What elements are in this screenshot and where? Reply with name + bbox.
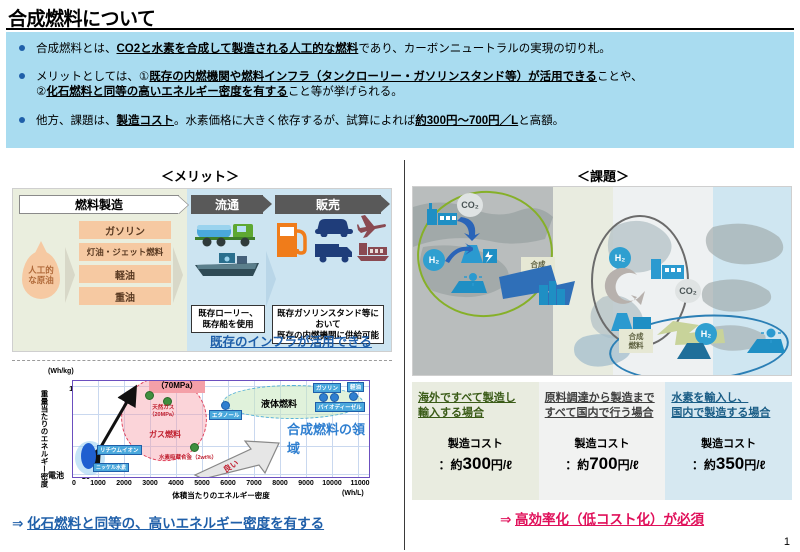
cargo-ship-icon bbox=[357, 241, 389, 263]
synthetic-fuel-zone-label: 合成燃料の領域 bbox=[287, 419, 369, 457]
stage-label-production: 燃料製造 bbox=[75, 196, 123, 213]
x-tick: 5000 bbox=[194, 480, 210, 487]
car-icon bbox=[313, 215, 355, 237]
note-distribution-line2: 既存船を使用 bbox=[195, 319, 261, 330]
data-label-lithium-ion: リチウムイオン bbox=[97, 445, 142, 455]
synth-fuel-tag-right: 合成 燃料 bbox=[619, 329, 653, 353]
cost-card-value: ：約350円/ℓ bbox=[671, 454, 786, 474]
chart-plot-area: 良い 水素 （70MPa） 天然ガス （20MPa） ガス燃料 水素吸蔵合金（2… bbox=[72, 380, 370, 478]
bullet-text-3: 他方、課題は、製造コスト。水素価格に大きく依存するが、試算によれば約300円～7… bbox=[36, 115, 564, 127]
title-divider bbox=[6, 28, 794, 30]
issue-bottom-arrow: ⇒ bbox=[500, 512, 511, 527]
merit-flow-diagram: 燃料製造 流通 販売 人工的 な原油 ガソリン 灯油・ジェット燃料 軽油 重油 bbox=[12, 188, 392, 352]
cost-card-title: 原料調達から製造まで すべて国内で行う場合 bbox=[545, 391, 660, 421]
issue-heading: ＜課題＞ bbox=[410, 166, 796, 185]
chevron-right-icon bbox=[178, 196, 188, 214]
y-axis-unit: (Wh/kg) bbox=[48, 368, 74, 375]
stage-chevron-distribution: 流通 bbox=[191, 195, 263, 214]
cost-card-title: 水素を輸入し、 国内で製造する場合 bbox=[671, 391, 786, 421]
cost-card-subtitle: 製造コスト bbox=[545, 435, 660, 451]
cost-card-title: 海外ですべて製造し 輸入する場合 bbox=[418, 391, 533, 421]
cost-card-value: ：約300円/ℓ bbox=[418, 454, 533, 474]
data-point-hydrogen-alloy bbox=[190, 443, 199, 452]
arrow-separator-icon bbox=[65, 247, 75, 303]
note-sales-line1: 既存ガソリンスタンド等において bbox=[276, 308, 380, 330]
note-distribution: 既存ローリー、 既存船を使用 bbox=[191, 305, 265, 333]
bullet-item-3: 他方、課題は、製造コスト。水素価格に大きく依存するが、試算によれば約300円～7… bbox=[6, 114, 794, 129]
tank-truck-icon bbox=[193, 217, 261, 251]
gas-pump-icon bbox=[275, 217, 309, 261]
data-point-gasoline bbox=[319, 393, 328, 402]
airplane-icon bbox=[357, 213, 387, 239]
merit-bottom-arrow: ⇒ bbox=[12, 516, 23, 531]
page-number: 1 bbox=[784, 536, 790, 548]
data-point-biodiesel bbox=[330, 393, 339, 402]
bullet-dot-icon bbox=[19, 117, 25, 123]
x-tick: 0 bbox=[72, 480, 76, 487]
x-axis-unit: (Wh/L) bbox=[342, 490, 364, 497]
data-label-diesel: 軽油 bbox=[347, 382, 364, 392]
note-distribution-line1: 既存ローリー、 bbox=[195, 308, 261, 319]
bullet-text-1: 合成燃料とは、CO2と水素を合成して製造される人工的な燃料であり、カーボンニュー… bbox=[36, 43, 611, 55]
x-tick: 4000 bbox=[168, 480, 184, 487]
co2-badge-left: CO₂ bbox=[457, 193, 483, 217]
fuel-chip: 軽油 bbox=[79, 265, 171, 283]
bullet-dot-icon bbox=[19, 73, 25, 79]
bullet-item-1: 合成燃料とは、CO2と水素を合成して製造される人工的な燃料であり、カーボンニュー… bbox=[6, 42, 794, 57]
data-point-ethanol bbox=[221, 401, 230, 410]
merit-conclusion: 既存のインフラが活用できる bbox=[191, 331, 391, 350]
hydrogen-callout: 水素 （70MPa） bbox=[149, 380, 205, 393]
energy-density-chart: (Wh/kg) 重量当たりのエネルギー密度 10000 1000 100 10 … bbox=[12, 368, 392, 508]
tanker-ship-icon bbox=[193, 249, 263, 283]
data-label-hydrogen-alloy: 水素吸蔵合金（2wt%） bbox=[157, 453, 219, 461]
data-label-natural-gas: 天然ガス （20MPa） bbox=[147, 405, 179, 419]
fuel-chip: 灯油・ジェット燃料 bbox=[79, 243, 171, 261]
stage-chevron-production: 燃料製造 bbox=[19, 195, 179, 214]
x-tick: 1000 bbox=[90, 480, 106, 487]
liquid-fuel-region-label: 液体燃料 bbox=[261, 397, 297, 410]
bullet-item-2: メリットとしては、①既存の内燃機関や燃料インフラ（タンクローリー・ガソリンスタン… bbox=[6, 70, 794, 100]
cost-card-value: ：約700円/ℓ bbox=[545, 454, 660, 474]
slide-root: 合成燃料について 合成燃料とは、CO2と水素を合成して製造される人工的な燃料であ… bbox=[0, 0, 800, 552]
panel-divider bbox=[404, 160, 405, 550]
x-tick: 6000 bbox=[220, 480, 236, 487]
data-point-hydrogen bbox=[145, 391, 154, 400]
cost-card: 水素を輸入し、 国内で製造する場合 製造コスト ：約350円/ℓ bbox=[665, 382, 792, 500]
issue-bottom-text: 高効率化（低コスト化）が必須 bbox=[515, 512, 704, 527]
crude-label-line1: 人工的 bbox=[28, 265, 54, 275]
x-tick: 9000 bbox=[298, 480, 314, 487]
x-tick: 11000 bbox=[350, 480, 369, 487]
h2-badge-left: H₂ bbox=[423, 249, 445, 271]
bullet-text-2: メリットとしては、①既存の内燃機関や燃料インフラ（タンクローリー・ガソリンスタン… bbox=[36, 71, 643, 98]
co2-badge-right: CO₂ bbox=[675, 279, 701, 303]
chevron-right-icon bbox=[380, 195, 390, 213]
cost-card: 原料調達から製造まで すべて国内で行う場合 製造コスト ：約700円/ℓ bbox=[539, 382, 666, 500]
factory-icon bbox=[649, 251, 687, 281]
bullet-panel: 合成燃料とは、CO2と水素を合成して製造される人工的な燃料であり、カーボンニュー… bbox=[6, 32, 794, 148]
truck-icon bbox=[313, 241, 355, 263]
data-label-gasoline: ガソリン bbox=[313, 383, 341, 393]
x-axis-title: 体積当たりのエネルギー密度 bbox=[72, 490, 370, 501]
stage-label-sales: 販売 bbox=[316, 196, 340, 213]
merit-bottom-conclusion: ⇒ 化石燃料と同等の、高いエネルギー密度を有する bbox=[12, 512, 392, 532]
issue-bottom-conclusion: ⇒ 高効率化（低コスト化）が必須 bbox=[412, 508, 792, 528]
factory-icon bbox=[425, 201, 459, 227]
stage-label-distribution: 流通 bbox=[215, 196, 239, 213]
h2-badge-mid: H₂ bbox=[609, 247, 631, 269]
cost-card: 海外ですべて製造し 輸入する場合 製造コスト ：約300円/ℓ bbox=[412, 382, 539, 500]
gas-fuel-region-label: ガス燃料 bbox=[149, 429, 181, 440]
merit-heading: ＜メリット＞ bbox=[0, 166, 400, 185]
merit-dashed-divider bbox=[12, 360, 392, 361]
x-tick: 3000 bbox=[142, 480, 158, 487]
data-label-ethanol: エタノール bbox=[209, 410, 242, 420]
cost-card-subtitle: 製造コスト bbox=[418, 435, 533, 451]
data-label-biodiesel: バイオディーゼル bbox=[315, 402, 365, 412]
x-tick: 2000 bbox=[116, 480, 132, 487]
hydrogen-plant-icon bbox=[675, 335, 715, 361]
solar-farm-icon bbox=[745, 327, 787, 357]
fuel-chip: 重油 bbox=[79, 287, 171, 305]
cost-card-row: 海外ですべて製造し 輸入する場合 製造コスト ：約300円/ℓ 原料調達から製造… bbox=[412, 382, 792, 500]
global-supply-chain-map: CO₂ H₂ 合成 燃料 H₂ bbox=[412, 186, 792, 376]
x-tick: 10000 bbox=[322, 480, 341, 487]
stage-chevron-sales: 販売 bbox=[275, 195, 381, 214]
fuel-chip: ガソリン bbox=[79, 221, 171, 239]
arrow-separator-icon bbox=[173, 247, 183, 303]
bullet-dot-icon bbox=[19, 45, 25, 51]
arrow-up-right-icon bbox=[443, 243, 473, 265]
x-tick: 8000 bbox=[272, 480, 288, 487]
factory-icon bbox=[537, 275, 567, 309]
cost-card-subtitle: 製造コスト bbox=[671, 435, 786, 451]
chevron-right-icon bbox=[262, 195, 272, 213]
data-label-nickel-hydride: ニッケル水素 bbox=[93, 463, 129, 472]
merit-bottom-text: 化石燃料と同等の、高いエネルギー密度を有する bbox=[27, 516, 324, 531]
crude-label-line2: な原油 bbox=[28, 275, 54, 285]
page-title: 合成燃料について bbox=[8, 4, 155, 31]
data-point-diesel bbox=[349, 392, 358, 401]
x-tick: 7000 bbox=[246, 480, 262, 487]
solar-farm-icon bbox=[449, 271, 489, 295]
y-axis-battery-label: 電池 bbox=[48, 470, 64, 481]
